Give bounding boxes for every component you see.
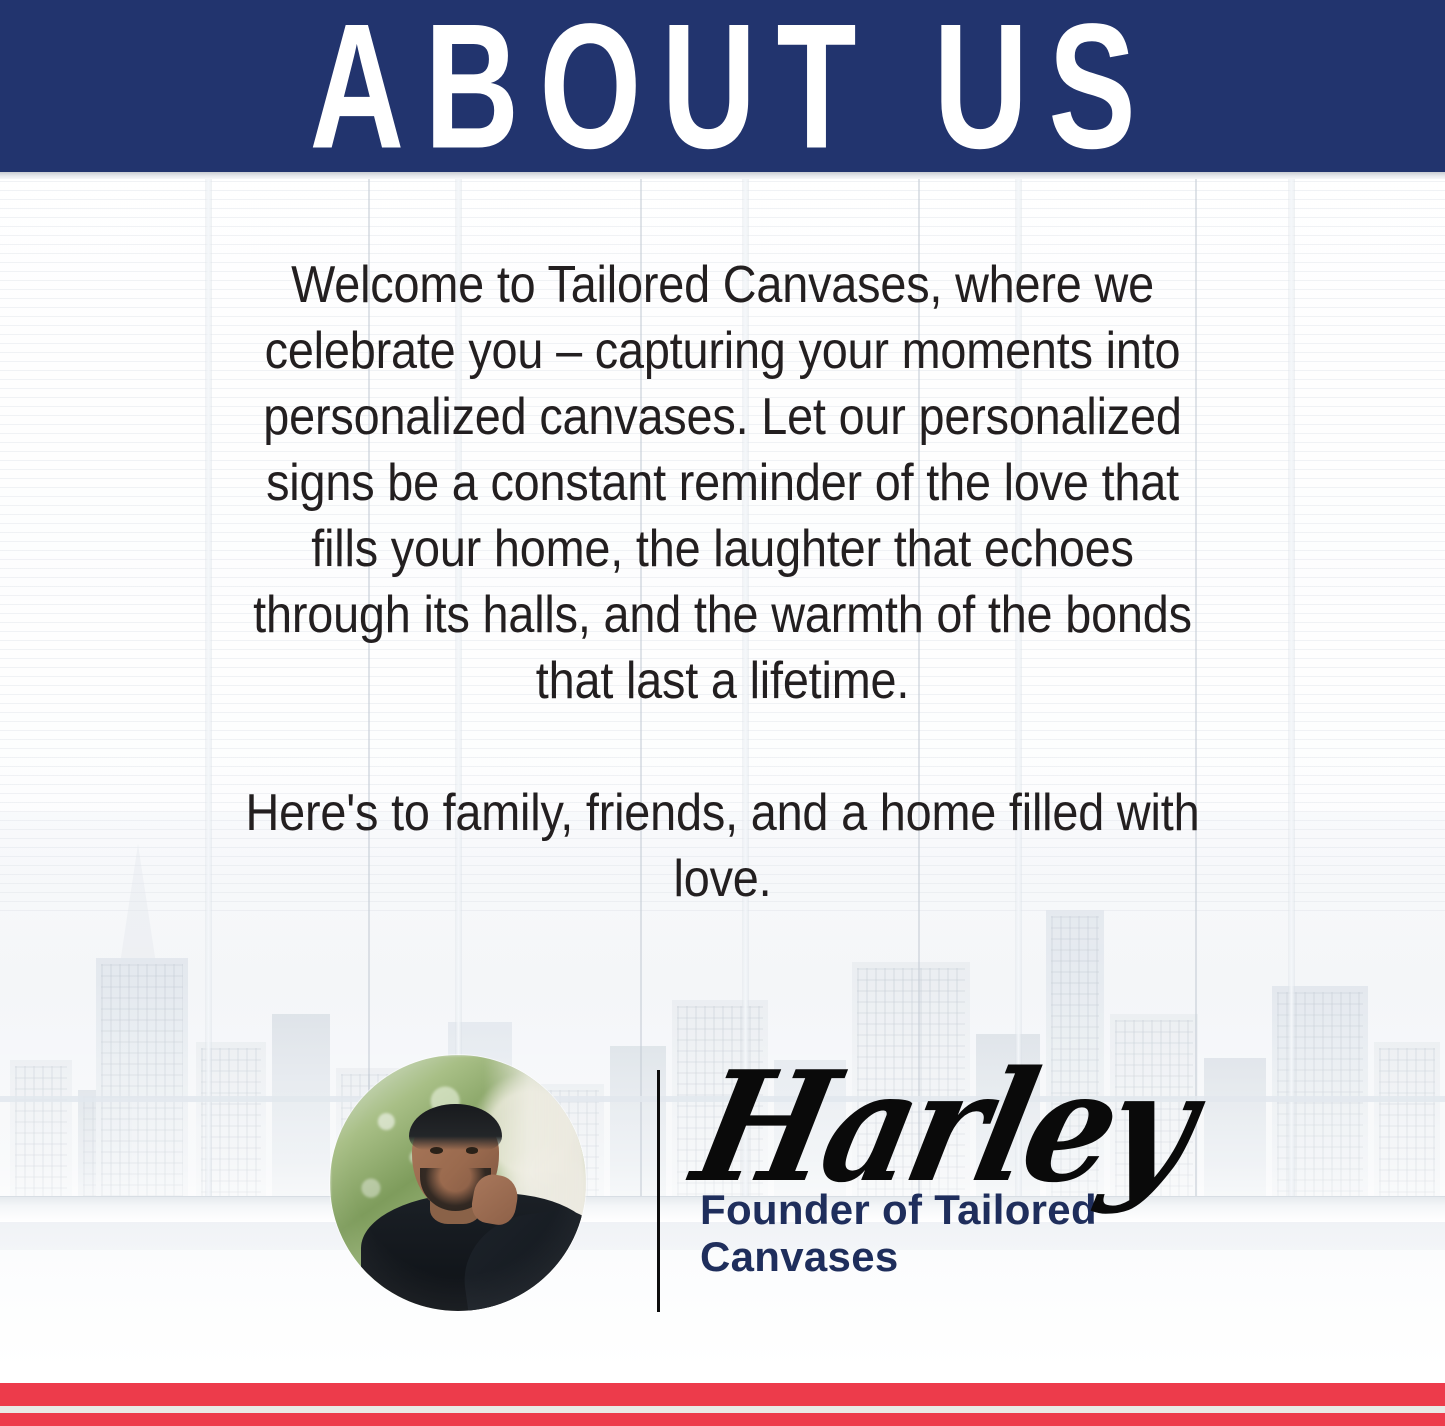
header-underline [0,172,1445,179]
about-text-block: Welcome to Tailored Canvases, where we c… [0,252,1445,912]
footer-bar-primary [0,1383,1445,1406]
avatar-vignette [330,1055,586,1311]
vertical-divider [657,1070,660,1312]
signature-block: Harley Founder of Tailored Canvases [700,1052,1170,1280]
about-us-page: ABOUT US Welcome to Tailored Canvases, w… [0,0,1445,1426]
header-banner: ABOUT US [0,0,1445,172]
about-paragraph-1: Welcome to Tailored Canvases, where we c… [243,252,1202,714]
footer-bar-gap [0,1406,1445,1413]
page-title: ABOUT US [289,0,1156,172]
founder-avatar [330,1055,586,1311]
about-paragraph-2: Here's to family, friends, and a home fi… [243,780,1202,912]
founder-signature: Harley [684,1052,1148,1202]
footer-bar-secondary [0,1413,1445,1426]
